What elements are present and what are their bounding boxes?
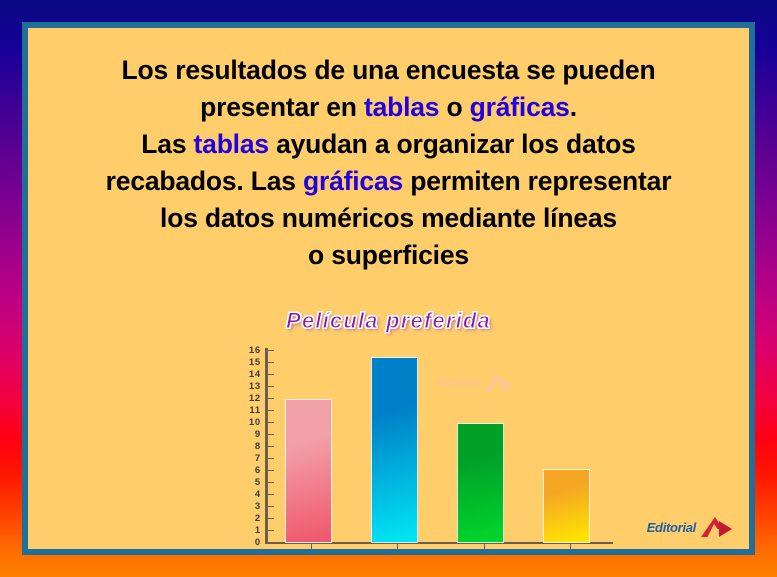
y-axis-tick-label: 8 xyxy=(255,441,261,452)
y-axis-tick-label: 7 xyxy=(255,453,261,464)
bar-chart: 161514131211109876543210 Los pitufosThor… xyxy=(235,346,615,555)
paragraph-line-2: presentar en tablas o gráficas. xyxy=(28,89,749,126)
y-axis-tick-label: 15 xyxy=(249,357,261,368)
lesson-paragraph: Los resultados de una encuesta se pueden… xyxy=(28,52,749,274)
x-axis-category-label: Thor xyxy=(354,554,440,555)
keyword-tablas-1: tablas xyxy=(364,92,439,122)
paragraph-line-5-text: los datos numéricos mediante líneas xyxy=(160,203,617,233)
y-axis-tick-label: 6 xyxy=(255,465,261,476)
bar-yellow-orange xyxy=(543,469,590,543)
paragraph-line-2-text-c: . xyxy=(570,92,577,122)
md-triangle-watermark-icon xyxy=(482,372,516,394)
slide-root: Los resultados de una encuesta se pueden… xyxy=(0,0,777,577)
y-axis-tick-label: 0 xyxy=(255,537,261,548)
editorial-md-logo: Editorial xyxy=(647,515,737,539)
keyword-tablas-2: tablas xyxy=(194,129,269,159)
paragraph-line-3: Las tablas ayudan a organizar los datos xyxy=(28,126,749,163)
y-axis-tick-label: 3 xyxy=(255,501,261,512)
keyword-graficas-1: gráficas xyxy=(470,92,570,122)
y-axis-tick-label: 14 xyxy=(249,369,261,380)
paragraph-line-2-text-b: o xyxy=(439,92,469,122)
editorial-md-watermark: Editorial xyxy=(436,372,516,394)
x-axis-category-label: Crepúsculo xyxy=(527,554,613,555)
paragraph-line-6-text: o superficies xyxy=(308,240,469,270)
md-triangle-logo-icon xyxy=(699,515,737,539)
y-axis-tick-label: 2 xyxy=(255,513,261,524)
x-axis-category-label: Linterna verde xyxy=(441,554,527,555)
x-axis-tick-mark xyxy=(397,544,398,551)
y-axis-tick-label: 4 xyxy=(255,489,261,500)
paragraph-line-3-text-a: Las xyxy=(141,129,193,159)
paragraph-line-6: o superficies xyxy=(28,237,749,274)
paragraph-line-1: Los resultados de una encuesta se pueden xyxy=(28,52,749,89)
slide-panel: Los resultados de una encuesta se pueden… xyxy=(22,22,755,555)
y-axis-tick-label: 12 xyxy=(249,393,261,404)
y-axis-tick-label: 16 xyxy=(249,345,261,356)
y-axis-tick-label: 5 xyxy=(255,477,261,488)
paragraph-line-5: los datos numéricos mediante líneas xyxy=(28,200,749,237)
paragraph-line-4-text-a: recabados. Las xyxy=(106,166,303,196)
y-axis-tick-label: 10 xyxy=(249,417,261,428)
logo-text: Editorial xyxy=(647,520,696,535)
watermark-text: Editorial xyxy=(436,377,480,389)
y-axis-tick-label: 9 xyxy=(255,429,261,440)
bar-green xyxy=(457,423,504,543)
chart-title: Película preferida xyxy=(28,308,749,334)
y-axis-tick-label: 1 xyxy=(255,525,261,536)
paragraph-line-4: recabados. Las gráficas permiten represe… xyxy=(28,163,749,200)
x-axis-category-label: Los pitufos xyxy=(268,554,354,555)
paragraph-line-2-text-a: presentar en xyxy=(200,92,364,122)
bar-pink-red xyxy=(285,399,332,543)
paragraph-line-4-text-b: permiten representar xyxy=(403,166,671,196)
y-axis-tick-label: 13 xyxy=(249,381,261,392)
y-axis-tick-label: 11 xyxy=(249,405,261,416)
paragraph-line-1-text: Los resultados de una encuesta se pueden xyxy=(122,55,656,85)
x-axis-tick-mark xyxy=(311,544,312,551)
bar-cyan-blue xyxy=(371,357,418,543)
x-axis-tick-mark xyxy=(570,544,571,551)
x-axis-tick-mark xyxy=(484,544,485,551)
paragraph-line-3-text-b: ayudan a organizar los datos xyxy=(269,129,636,159)
keyword-graficas-2: gráficas xyxy=(303,166,403,196)
